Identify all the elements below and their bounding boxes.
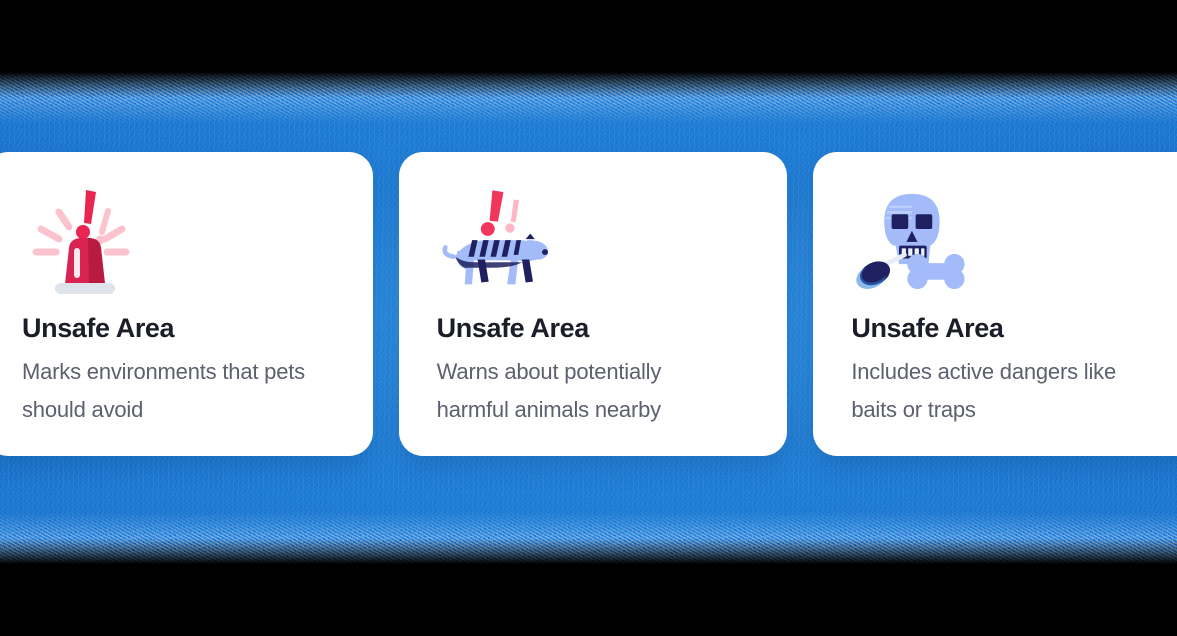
card-title: Unsafe Area [851, 314, 1168, 344]
card-description: Includes active dangers like baits or tr… [851, 353, 1151, 429]
background-speckle-top [0, 72, 1177, 124]
card-description: Marks environments that pets should avoi… [22, 353, 322, 429]
feature-card-unsafe-area-environments[interactable]: Unsafe Area Marks environments that pets… [0, 152, 373, 456]
police-siren-icon [22, 182, 142, 300]
card-description: Warns about potentially harmful animals … [437, 353, 737, 429]
card-title: Unsafe Area [22, 314, 339, 344]
skull-and-bone-icon [851, 182, 971, 300]
feature-card-unsafe-area-traps[interactable]: Unsafe Area Includes active dangers like… [813, 152, 1177, 456]
background-speckle-bottom [0, 512, 1177, 564]
tiger-warning-icon [437, 182, 557, 300]
feature-card-row: Unsafe Area Marks environments that pets… [0, 152, 1177, 456]
card-title: Unsafe Area [437, 314, 754, 344]
feature-card-unsafe-area-animals[interactable]: Unsafe Area Warns about potentially harm… [399, 152, 788, 456]
screenshot-root: Unsafe Area Marks environments that pets… [0, 0, 1177, 636]
